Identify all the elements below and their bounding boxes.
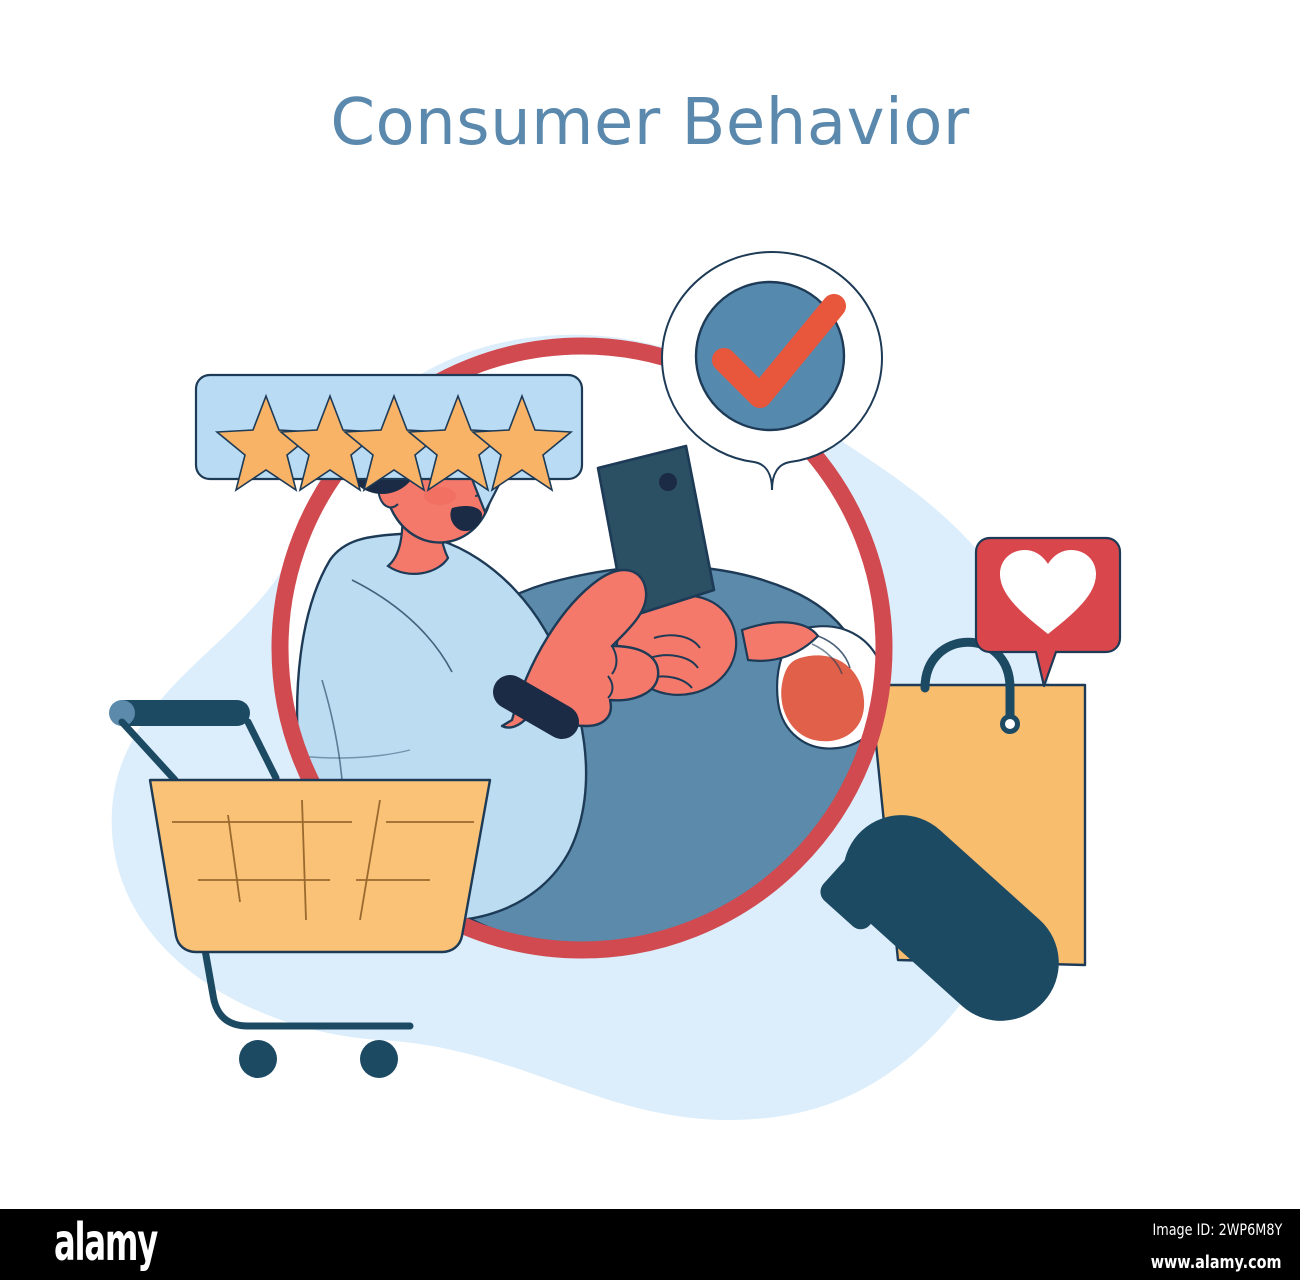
watermark-bar xyxy=(0,1209,1300,1280)
consumer-behavior-illustration xyxy=(0,160,1300,1180)
page-title: Consumer Behavior xyxy=(0,88,1300,158)
alamy-logo: alamy xyxy=(54,1216,157,1271)
illustration-page: Consumer Behavior xyxy=(0,0,1300,1280)
website-label: www.alamy.com xyxy=(1151,1252,1282,1273)
image-id-label: Image ID: 2WP6M8Y xyxy=(1152,1220,1282,1239)
